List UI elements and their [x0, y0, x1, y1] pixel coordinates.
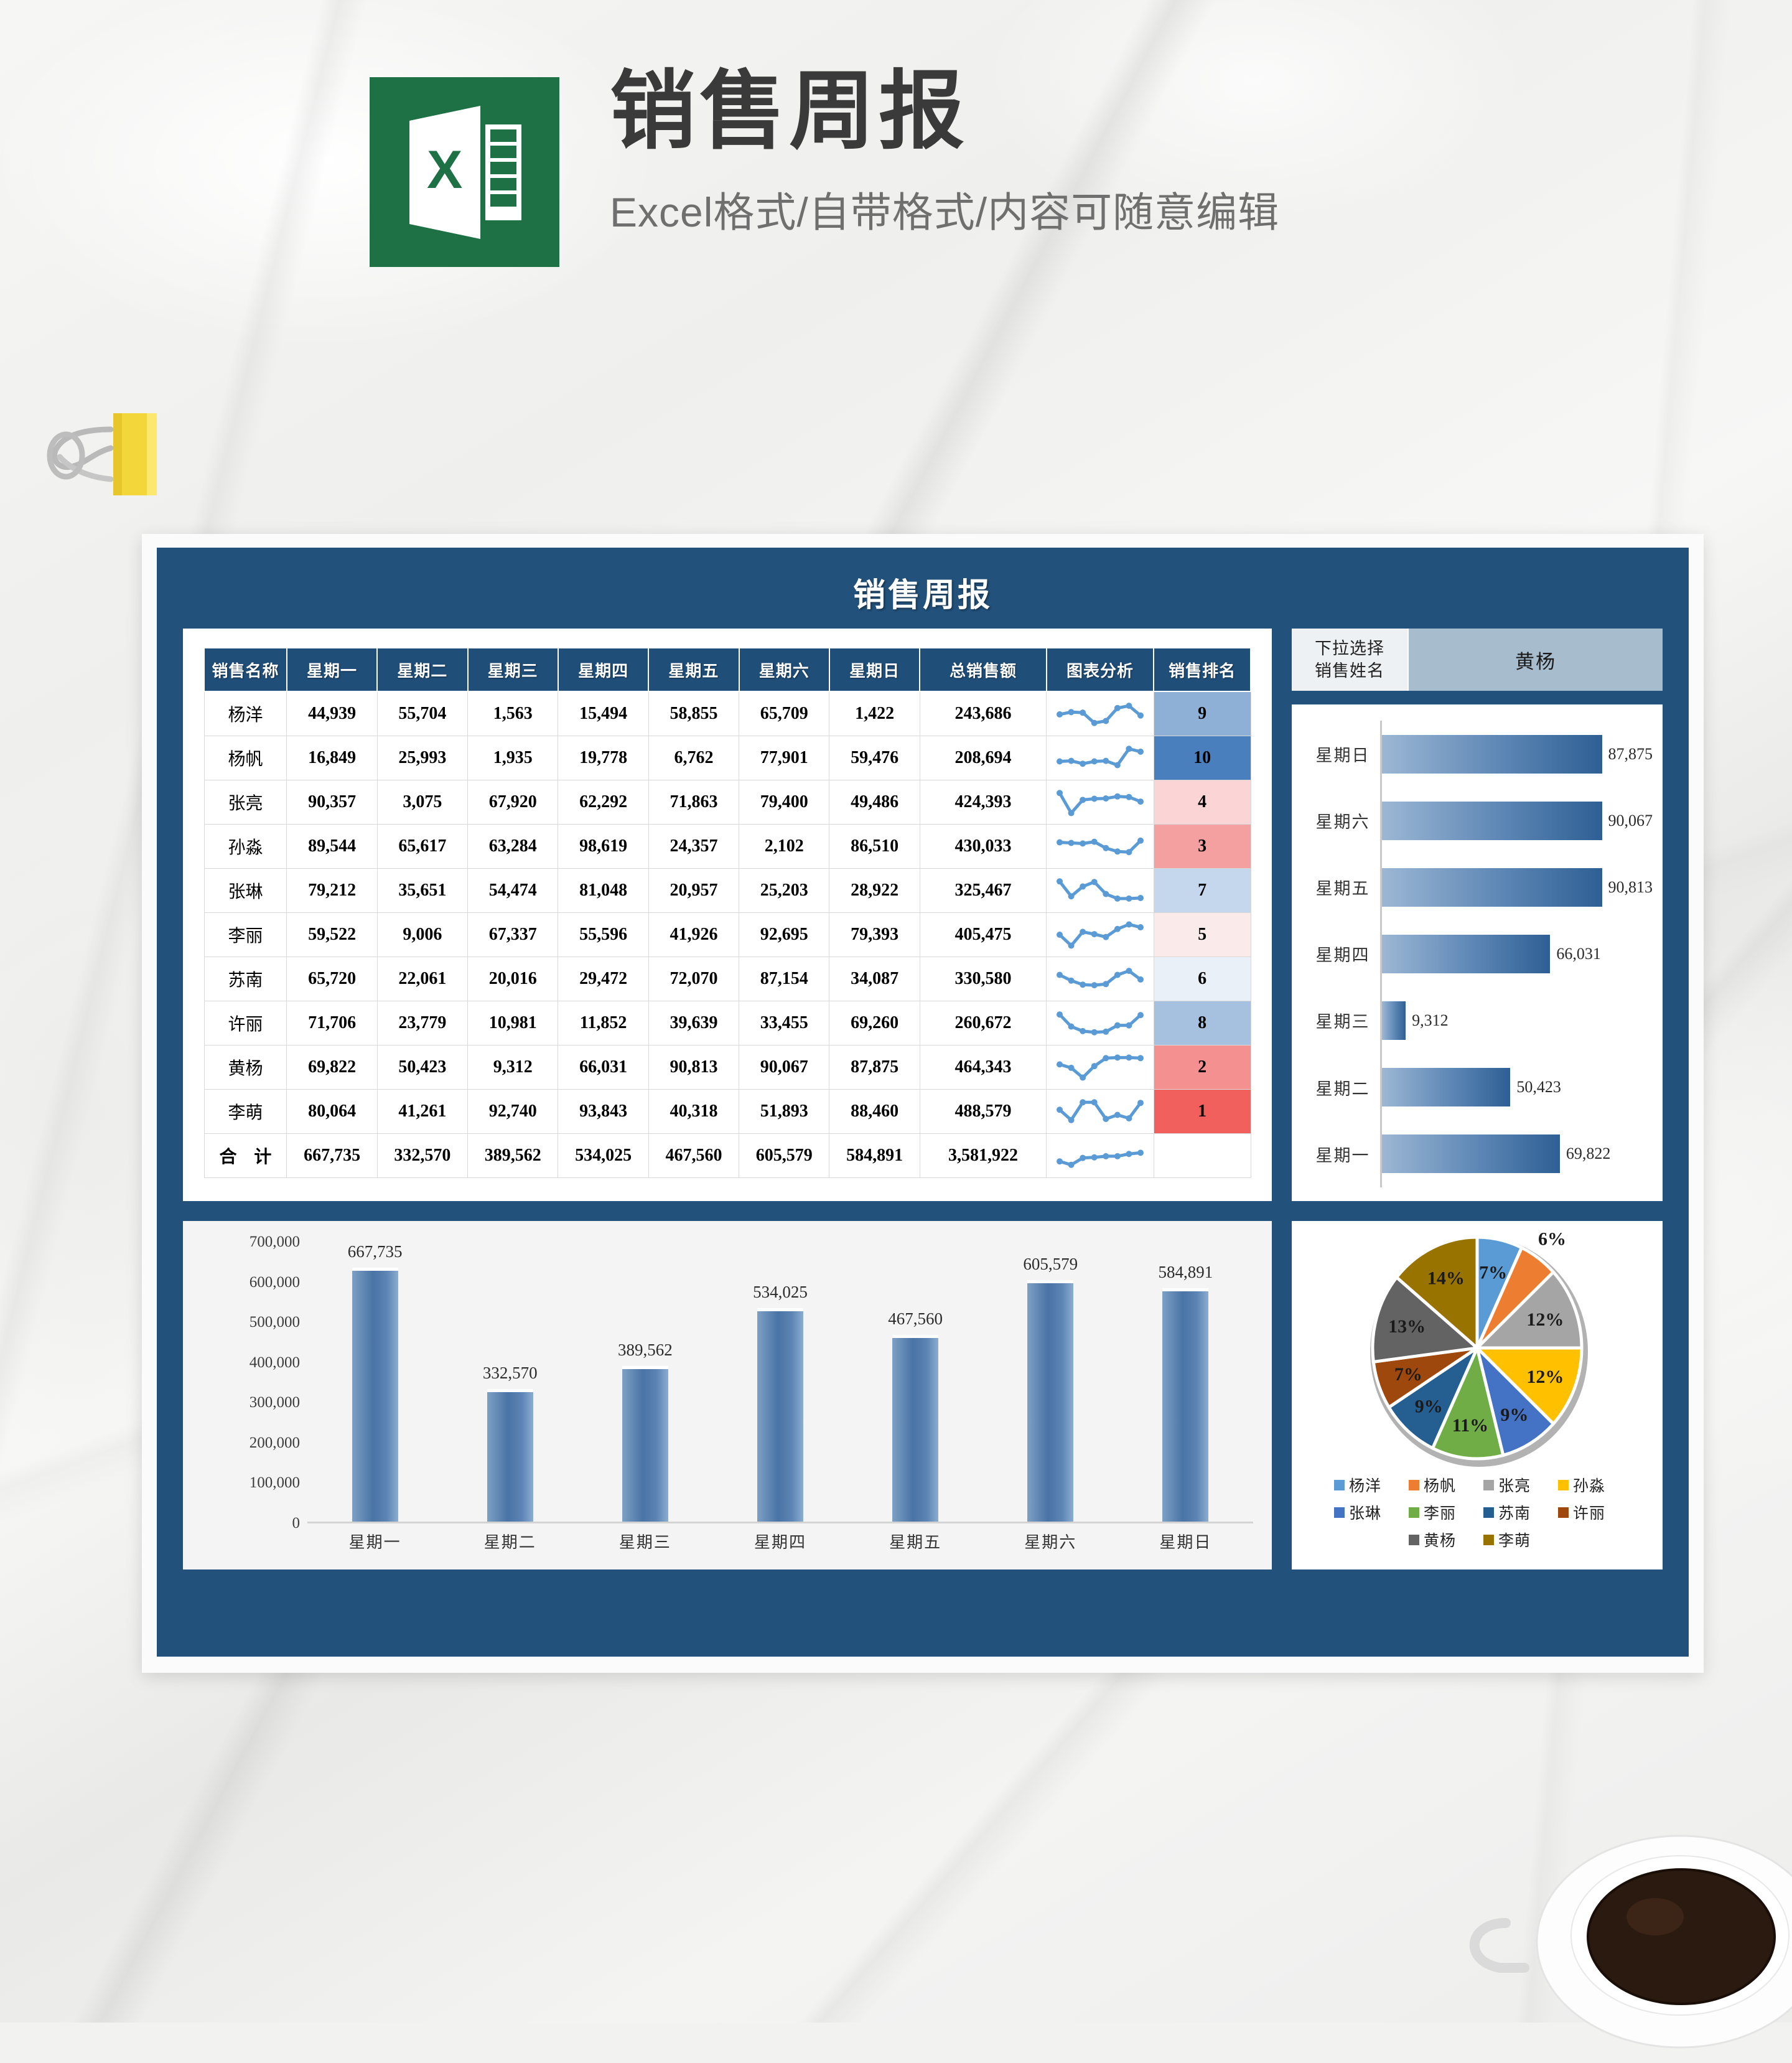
cell-total-day-5: 467,560: [648, 1133, 739, 1177]
column-item: 534,025: [712, 1242, 847, 1522]
hbar-row: 星期二50,423: [1305, 1054, 1653, 1120]
cell-total: 325,467: [920, 868, 1047, 912]
cell-total-day-3: 389,562: [468, 1133, 558, 1177]
cell-day-6: 65,709: [739, 691, 829, 736]
column-x-tick-label: 星期四: [712, 1530, 847, 1553]
cell-day-7: 87,875: [829, 1045, 920, 1089]
column-x-tick-label: 星期日: [1118, 1530, 1253, 1553]
cell-sales-name: 黄杨: [204, 1045, 287, 1089]
cell-day-3: 1,935: [468, 736, 558, 780]
column-x-tick-label: 星期二: [442, 1530, 577, 1553]
cell-sales-name: 张亮: [204, 780, 287, 824]
legend-label: 李萌: [1498, 1528, 1531, 1551]
cell-day-6: 77,901: [739, 736, 829, 780]
cell-day-1: 59,522: [287, 912, 377, 957]
table-row: 孙淼89,54465,61763,28498,61924,3572,10286,…: [204, 824, 1251, 868]
svg-text:7%: 7%: [1479, 1262, 1507, 1283]
cell-rank: 4: [1154, 780, 1251, 824]
svg-text:14%: 14%: [1427, 1268, 1465, 1288]
col-header-fri[interactable]: 星期五: [648, 648, 739, 691]
column-x-tick-label: 星期六: [983, 1530, 1118, 1553]
column-y-tick-label: 200,000: [250, 1434, 300, 1452]
selector-label-line2: 销售姓名: [1315, 660, 1384, 682]
selector-value[interactable]: 黄杨: [1409, 629, 1663, 691]
cell-sparkline: [1047, 736, 1154, 780]
cell-day-3: 63,284: [468, 824, 558, 868]
hbar-category-label: 星期三: [1305, 1008, 1380, 1032]
svg-text:12%: 12%: [1526, 1367, 1564, 1387]
paperclip-icon: [44, 405, 168, 504]
hbar-track: 50,423: [1380, 1054, 1653, 1120]
hbar-row: 星期日87,875: [1305, 721, 1653, 787]
column-y-tick-label: 500,000: [250, 1314, 300, 1331]
hbar-bar: [1382, 868, 1602, 907]
cell-day-5: 40,318: [648, 1089, 739, 1133]
hbar-track: 90,813: [1380, 854, 1653, 920]
cell-day-2: 65,617: [377, 824, 467, 868]
cell-total-day-1: 667,735: [287, 1133, 377, 1177]
legend-color-swatch: [1483, 1535, 1494, 1545]
cell-day-7: 59,476: [829, 736, 920, 780]
hbar-track: 66,031: [1380, 920, 1653, 987]
cell-sparkline: [1047, 780, 1154, 824]
col-header-mon[interactable]: 星期一: [287, 648, 377, 691]
hbar-value-label: 66,031: [1556, 945, 1601, 963]
column-chart-x-axis: 星期一星期二星期三星期四星期五星期六星期日: [307, 1530, 1253, 1553]
cell-sparkline: [1047, 1001, 1154, 1045]
board-title: 销售周报: [157, 548, 1689, 615]
cell-day-3: 54,474: [468, 868, 558, 912]
cell-sales-name: 杨帆: [204, 736, 287, 780]
hbar-value-label: 90,813: [1608, 878, 1653, 897]
cell-total-day-4: 534,025: [558, 1133, 648, 1177]
cell-day-3: 9,312: [468, 1045, 558, 1089]
cell-total-day-6: 605,579: [739, 1133, 829, 1177]
cell-total-day-2: 332,570: [377, 1133, 467, 1177]
column-bar: [757, 1308, 803, 1522]
selector-label: 下拉选择 销售姓名: [1292, 629, 1409, 691]
col-header-sat[interactable]: 星期六: [739, 648, 829, 691]
legend-label: 杨洋: [1349, 1474, 1381, 1496]
cell-sales-name: 李萌: [204, 1089, 287, 1133]
cell-day-4: 19,778: [558, 736, 648, 780]
hbar-category-label: 星期六: [1305, 808, 1380, 833]
cell-day-4: 11,852: [558, 1001, 648, 1045]
cell-day-6: 33,455: [739, 1001, 829, 1045]
table-row: 许丽71,70623,77910,98111,85239,63933,45569…: [204, 1001, 1251, 1045]
cell-day-5: 71,863: [648, 780, 739, 824]
cell-day-2: 41,261: [377, 1089, 467, 1133]
hbar-bar: [1382, 1068, 1510, 1106]
cell-day-2: 3,075: [377, 780, 467, 824]
cell-grand-total: 3,581,922: [920, 1133, 1047, 1177]
page-header: X 销售周报 Excel格式/自带格式/内容可随意编辑: [0, 0, 1792, 292]
sales-table: 销售名称 星期一 星期二 星期三 星期四 星期五 星期六 星期日 总销售额 图表…: [203, 647, 1251, 1178]
table-row: 苏南65,72022,06120,01629,47272,07087,15434…: [204, 957, 1251, 1001]
column-x-tick-label: 星期五: [848, 1530, 983, 1553]
col-header-chart[interactable]: 图表分析: [1047, 648, 1154, 691]
column-y-tick-label: 300,000: [250, 1394, 300, 1411]
coffee-cup-photo: [1431, 1736, 1792, 2060]
cell-sales-name: 张琳: [204, 868, 287, 912]
legend-color-swatch: [1334, 1507, 1345, 1518]
hbar-category-label: 星期五: [1305, 875, 1380, 899]
table-row: 李丽59,5229,00667,33755,59641,92692,69579,…: [204, 912, 1251, 957]
table-row: 张亮90,3573,07567,92062,29271,86379,40049,…: [204, 780, 1251, 824]
cell-day-7: 1,422: [829, 691, 920, 736]
cell-day-6: 92,695: [739, 912, 829, 957]
cell-total: 424,393: [920, 780, 1047, 824]
cell-rank: 9: [1154, 691, 1251, 736]
cell-day-3: 67,920: [468, 780, 558, 824]
weekday-bar-chart: 星期日87,875星期六90,067星期五90,813星期四66,031星期三9…: [1292, 704, 1663, 1201]
cell-day-1: 80,064: [287, 1089, 377, 1133]
hbar-value-label: 9,312: [1412, 1011, 1449, 1030]
table-row: 杨帆16,84925,9931,93519,7786,76277,90159,4…: [204, 736, 1251, 780]
legend-label: 张琳: [1349, 1501, 1381, 1523]
cell-sales-name: 杨洋: [204, 691, 287, 736]
cell-day-2: 25,993: [377, 736, 467, 780]
column-item: 667,735: [307, 1242, 442, 1522]
cell-total: 488,579: [920, 1089, 1047, 1133]
hbar-category-label: 星期二: [1305, 1075, 1380, 1100]
col-header-name[interactable]: 销售名称: [204, 648, 287, 691]
cell-sparkline: [1047, 868, 1154, 912]
cell-day-6: 79,400: [739, 780, 829, 824]
excel-logo-icon: X: [370, 77, 559, 267]
cell-day-6: 51,893: [739, 1089, 829, 1133]
legend-color-swatch: [1483, 1480, 1494, 1490]
cell-day-7: 88,460: [829, 1089, 920, 1133]
cell-total-label: 合 计: [204, 1133, 287, 1177]
table-row: 杨洋44,93955,7041,56315,49458,85565,7091,4…: [204, 691, 1251, 736]
column-value-label: 467,560: [888, 1309, 943, 1329]
cell-day-3: 67,337: [468, 912, 558, 957]
hbar-category-label: 星期日: [1305, 742, 1380, 766]
legend-label: 杨帆: [1424, 1474, 1456, 1496]
column-item: 332,570: [442, 1242, 577, 1522]
cell-day-7: 79,393: [829, 912, 920, 957]
cell-day-5: 90,813: [648, 1045, 739, 1089]
table-row: 李萌80,06441,26192,74093,84340,31851,89388…: [204, 1089, 1251, 1133]
col-header-rank[interactable]: 销售排名: [1154, 648, 1251, 691]
cell-total-sparkline: [1047, 1133, 1154, 1177]
cell-day-5: 24,357: [648, 824, 739, 868]
column-value-label: 667,735: [348, 1242, 403, 1261]
svg-text:6%: 6%: [1538, 1228, 1566, 1249]
svg-text:7%: 7%: [1394, 1364, 1422, 1385]
cell-day-2: 23,779: [377, 1001, 467, 1045]
pie-legend-item[interactable]: 许丽: [1558, 1501, 1620, 1523]
cell-day-3: 10,981: [468, 1001, 558, 1045]
cell-day-7: 34,087: [829, 957, 920, 1001]
cell-sales-name: 许丽: [204, 1001, 287, 1045]
cell-total: 330,580: [920, 957, 1047, 1001]
table-row: 黄杨69,82250,4239,31266,03190,81390,06787,…: [204, 1045, 1251, 1089]
table-total-row: 合 计667,735332,570389,562534,025467,56060…: [204, 1133, 1251, 1177]
column-bar: [1027, 1280, 1073, 1522]
cell-sparkline: [1047, 824, 1154, 868]
column-item: 467,560: [848, 1242, 983, 1522]
page-title: 销售周报: [610, 68, 1279, 154]
legend-color-swatch: [1409, 1507, 1419, 1518]
cell-day-4: 62,292: [558, 780, 648, 824]
cell-day-2: 22,061: [377, 957, 467, 1001]
legend-color-swatch: [1409, 1535, 1419, 1545]
cell-day-6: 90,067: [739, 1045, 829, 1089]
cell-sparkline: [1047, 691, 1154, 736]
column-x-tick-label: 星期一: [307, 1530, 442, 1553]
cell-day-7: 86,510: [829, 824, 920, 868]
cell-day-6: 87,154: [739, 957, 829, 1001]
column-bar: [487, 1389, 533, 1522]
cell-day-2: 35,651: [377, 868, 467, 912]
svg-text:9%: 9%: [1415, 1396, 1443, 1416]
cell-rank: 10: [1154, 736, 1251, 780]
hbar-row: 星期四66,031: [1305, 920, 1653, 987]
hbar-row: 星期三9,312: [1305, 987, 1653, 1054]
cell-total: 464,343: [920, 1045, 1047, 1089]
hbar-track: 87,875: [1380, 721, 1653, 787]
cell-day-5: 20,957: [648, 868, 739, 912]
hbar-value-label: 87,875: [1608, 745, 1653, 764]
cell-day-1: 65,720: [287, 957, 377, 1001]
pie-graphic: 7%6%12%12%9%11%9%7%13%14%: [1331, 1228, 1623, 1477]
column-y-tick-label: 700,000: [250, 1233, 300, 1251]
cell-sparkline: [1047, 1045, 1154, 1089]
cell-total: 260,672: [920, 1001, 1047, 1045]
cell-total: 208,694: [920, 736, 1047, 780]
hbar-value-label: 69,822: [1566, 1144, 1611, 1163]
cell-day-6: 25,203: [739, 868, 829, 912]
cell-total: 243,686: [920, 691, 1047, 736]
cell-day-1: 90,357: [287, 780, 377, 824]
column-bar: [1162, 1288, 1208, 1522]
cell-day-4: 55,596: [558, 912, 648, 957]
legend-color-swatch: [1558, 1480, 1569, 1490]
svg-text:11%: 11%: [1452, 1415, 1488, 1436]
cell-day-5: 41,926: [648, 912, 739, 957]
cell-sales-name: 苏南: [204, 957, 287, 1001]
pie-legend-item[interactable]: 杨洋: [1334, 1474, 1396, 1496]
hbar-row: 星期六90,067: [1305, 787, 1653, 854]
cell-total-day-7: 584,891: [829, 1133, 920, 1177]
hbar-row: 星期一69,822: [1305, 1121, 1653, 1187]
hbar-bar: [1382, 1001, 1406, 1040]
hbar-track: 9,312: [1380, 987, 1653, 1054]
legend-color-swatch: [1334, 1480, 1345, 1490]
hbar-track: 90,067: [1380, 787, 1653, 854]
pie-legend-item[interactable]: 张琳: [1334, 1501, 1396, 1523]
legend-label: 张亮: [1498, 1474, 1531, 1496]
column-bar: [892, 1335, 938, 1522]
cell-day-4: 93,843: [558, 1089, 648, 1133]
column-bar: [352, 1268, 398, 1522]
column-x-tick-label: 星期三: [577, 1530, 712, 1553]
cell-day-1: 89,544: [287, 824, 377, 868]
hbar-category-label: 星期四: [1305, 942, 1380, 966]
cell-day-4: 15,494: [558, 691, 648, 736]
cell-rank: 1: [1154, 1089, 1251, 1133]
hbar-bar: [1382, 935, 1550, 973]
cell-total: 405,475: [920, 912, 1047, 957]
col-header-tue[interactable]: 星期二: [377, 648, 467, 691]
pie-legend-item[interactable]: 杨帆: [1409, 1474, 1471, 1496]
pie-legend-item[interactable]: 苏南: [1483, 1501, 1546, 1523]
column-value-label: 605,579: [1023, 1255, 1078, 1274]
cell-day-6: 2,102: [739, 824, 829, 868]
pie-legend: 杨洋杨帆张亮孙淼张琳李丽苏南许丽黄杨李萌: [1292, 1471, 1663, 1553]
cell-day-1: 69,822: [287, 1045, 377, 1089]
legend-label: 许丽: [1573, 1501, 1605, 1523]
cell-day-4: 29,472: [558, 957, 648, 1001]
column-chart-plot: 667,735332,570389,562534,025467,560605,5…: [307, 1242, 1253, 1523]
legend-label: 黄杨: [1424, 1528, 1456, 1551]
cell-day-7: 69,260: [829, 1001, 920, 1045]
cell-day-5: 6,762: [648, 736, 739, 780]
sales-table-body: 杨洋44,93955,7041,56315,49458,85565,7091,4…: [204, 691, 1251, 1177]
hbar-category-label: 星期一: [1305, 1142, 1380, 1166]
cell-day-7: 28,922: [829, 868, 920, 912]
cell-day-3: 20,016: [468, 957, 558, 1001]
column-item: 389,562: [577, 1242, 712, 1522]
col-header-wed[interactable]: 星期三: [468, 648, 558, 691]
sales-share-pie-chart: 7%6%12%12%9%11%9%7%13%14% 杨洋杨帆张亮孙淼张琳李丽苏南…: [1292, 1221, 1663, 1569]
cell-day-1: 79,212: [287, 868, 377, 912]
cell-sparkline: [1047, 1089, 1154, 1133]
cell-total: 430,033: [920, 824, 1047, 868]
hbar-value-label: 90,067: [1608, 812, 1653, 830]
legend-label: 苏南: [1498, 1501, 1531, 1523]
cell-sales-name: 孙淼: [204, 824, 287, 868]
column-value-label: 584,891: [1159, 1263, 1213, 1282]
column-value-label: 534,025: [753, 1283, 808, 1302]
cell-sparkline: [1047, 957, 1154, 1001]
table-row: 张琳79,21235,65154,47481,04820,95725,20328…: [204, 868, 1251, 912]
cell-sparkline: [1047, 912, 1154, 957]
hbar-track: 69,822: [1380, 1121, 1653, 1187]
cell-rank: 8: [1154, 1001, 1251, 1045]
hbar-bar: [1382, 735, 1602, 774]
column-y-tick-label: 100,000: [250, 1474, 300, 1492]
column-y-tick-label: 600,000: [250, 1274, 300, 1291]
cell-day-2: 55,704: [377, 691, 467, 736]
legend-label: 孙淼: [1573, 1474, 1605, 1496]
cell-day-5: 72,070: [648, 957, 739, 1001]
pie-legend-item[interactable]: 李丽: [1409, 1501, 1471, 1523]
col-header-sun[interactable]: 星期日: [829, 648, 920, 691]
col-header-thu[interactable]: 星期四: [558, 648, 648, 691]
cell-day-3: 1,563: [468, 691, 558, 736]
sales-name-selector[interactable]: 下拉选择 销售姓名 黄杨: [1292, 629, 1663, 691]
column-value-label: 389,562: [618, 1340, 673, 1360]
col-header-total[interactable]: 总销售额: [920, 648, 1047, 691]
column-chart-y-axis: 0100,000200,000300,000400,000500,000600,…: [207, 1242, 300, 1523]
cell-day-1: 44,939: [287, 691, 377, 736]
cell-day-1: 71,706: [287, 1001, 377, 1045]
legend-color-swatch: [1558, 1507, 1569, 1518]
cell-day-2: 50,423: [377, 1045, 467, 1089]
legend-color-swatch: [1483, 1507, 1494, 1518]
cell-rank: 3: [1154, 824, 1251, 868]
column-bar: [622, 1366, 668, 1522]
svg-text:12%: 12%: [1526, 1309, 1564, 1330]
cell-sales-name: 李丽: [204, 912, 287, 957]
cell-rank: 7: [1154, 868, 1251, 912]
cell-day-5: 39,639: [648, 1001, 739, 1045]
table-header-row: 销售名称 星期一 星期二 星期三 星期四 星期五 星期六 星期日 总销售额 图表…: [204, 648, 1251, 691]
sales-table-panel: 销售名称 星期一 星期二 星期三 星期四 星期五 星期六 星期日 总销售额 图表…: [183, 629, 1272, 1201]
column-value-label: 332,570: [483, 1364, 538, 1383]
svg-text:9%: 9%: [1500, 1405, 1528, 1425]
cell-day-5: 58,855: [648, 691, 739, 736]
selector-label-line1: 下拉选择: [1315, 637, 1384, 660]
cell-day-7: 49,486: [829, 780, 920, 824]
hbar-bar: [1382, 802, 1602, 840]
column-item: 584,891: [1118, 1242, 1253, 1522]
cell-day-4: 98,619: [558, 824, 648, 868]
svg-text:13%: 13%: [1388, 1316, 1426, 1337]
cell-day-4: 66,031: [558, 1045, 648, 1089]
cell-day-1: 16,849: [287, 736, 377, 780]
cell-rank: 6: [1154, 957, 1251, 1001]
pie-legend-item[interactable]: 孙淼: [1558, 1474, 1620, 1496]
pie-legend-item[interactable]: 张亮: [1483, 1474, 1546, 1496]
page-subtitle: Excel格式/自带格式/内容可随意编辑: [610, 179, 1279, 239]
cell-day-2: 9,006: [377, 912, 467, 957]
pie-legend-item[interactable]: 黄杨: [1409, 1528, 1471, 1551]
hbar-value-label: 50,423: [1516, 1078, 1561, 1097]
cell-rank: 5: [1154, 912, 1251, 957]
legend-label: 李丽: [1424, 1501, 1456, 1523]
column-y-tick-label: 0: [292, 1515, 301, 1532]
hbar-bar: [1382, 1134, 1560, 1173]
svg-text:X: X: [427, 140, 462, 200]
legend-color-swatch: [1409, 1480, 1419, 1490]
column-y-tick-label: 400,000: [250, 1354, 300, 1372]
pie-legend-item[interactable]: 李萌: [1483, 1528, 1546, 1551]
weekday-total-column-chart: 0100,000200,000300,000400,000500,000600,…: [183, 1221, 1272, 1569]
cell-rank: 2: [1154, 1045, 1251, 1089]
cell-day-3: 92,740: [468, 1089, 558, 1133]
cell-total-rank: [1154, 1133, 1251, 1177]
cell-day-4: 81,048: [558, 868, 648, 912]
hbar-row: 星期五90,813: [1305, 854, 1653, 920]
report-board: 销售周报 销售名称 星期一 星期二 星期三 星期四 星期五 星期六 星期日 总销…: [157, 548, 1689, 1657]
column-item: 605,579: [983, 1242, 1118, 1522]
